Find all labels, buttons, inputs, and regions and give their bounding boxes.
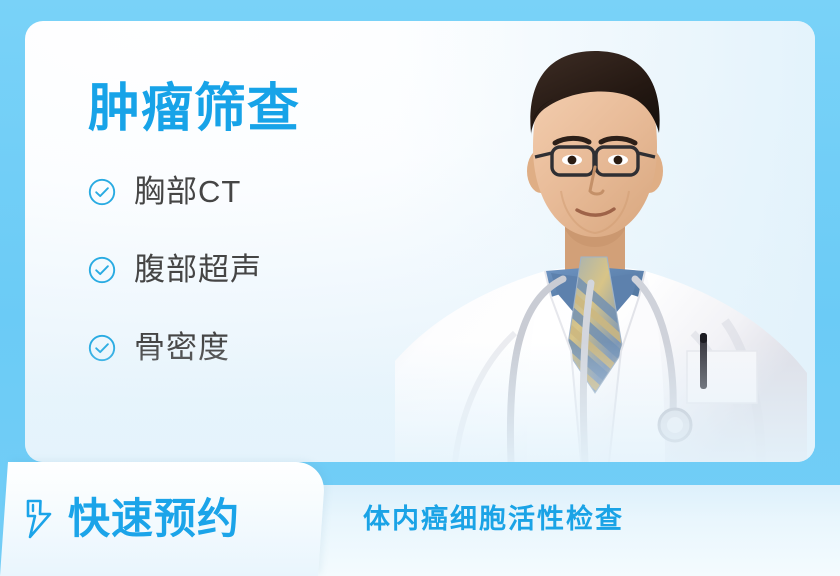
lightning-bolt-icon: [22, 499, 56, 539]
list-item: 胸部CT: [88, 167, 448, 217]
feature-label: 腹部超声: [134, 253, 262, 287]
bottom-subtitle: 体内癌细胞活性检查: [363, 504, 624, 534]
promo-card: 肿瘤筛查 胸部CT: [25, 21, 815, 462]
quick-booking-content[interactable]: 快速预约: [0, 462, 318, 576]
quick-booking-label: 快速预约: [68, 496, 240, 542]
check-circle-icon: [88, 334, 116, 362]
feature-list: 胸部CT 腹部超声: [88, 167, 448, 373]
doctor-portrait: [395, 21, 815, 462]
check-circle-icon: [88, 256, 116, 284]
check-circle-icon: [88, 178, 116, 206]
bottom-cta-bar: 体内癌细胞活性检查 快速预约: [0, 462, 840, 576]
list-item: 腹部超声: [88, 245, 448, 295]
feature-label: 骨密度: [134, 331, 230, 365]
promo-text-column: 肿瘤筛查 胸部CT: [88, 81, 448, 373]
feature-label: 胸部CT: [134, 175, 241, 209]
page-title: 肿瘤筛查: [88, 81, 448, 137]
promo-banner: 肿瘤筛查 胸部CT: [0, 0, 840, 576]
list-item: 骨密度: [88, 323, 448, 373]
bottom-subtitle-wrap: 体内癌细胞活性检查: [363, 462, 624, 576]
